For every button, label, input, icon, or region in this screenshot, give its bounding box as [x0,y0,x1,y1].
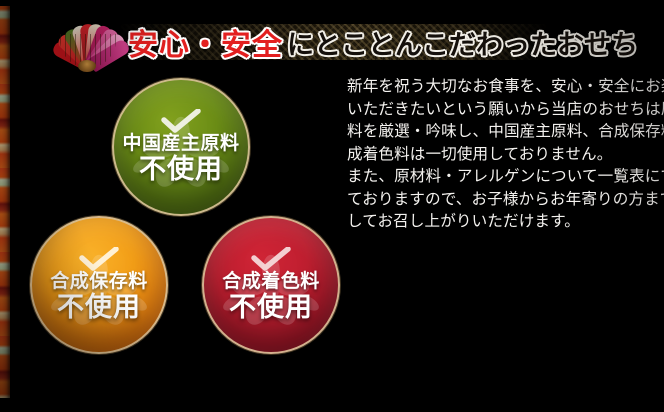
left-strip-top-gap [0,0,10,6]
check-mark-icon [161,109,201,133]
page-title: 安心・安全 にとことんこだわったおせち [128,22,638,62]
title-rest: にとことんこだわったおせち [287,23,638,62]
body-copy-line: いただきたいという願いから当店のおせちは原材 [347,99,664,122]
check-mark-icon [79,247,119,271]
badge-line-2: 不使用 [139,155,223,185]
body-copy: 新年を祝う大切なお食事を、安心・安全にお楽しみ いただきたいという願いから当店の… [347,76,664,234]
badge-line-1: 中国産主原料 [122,134,239,154]
badge-line-1: 合成保存料 [50,272,148,292]
title-highlight: 安心・安全 [128,20,283,64]
body-copy-line: してお召し上がりいただけます。 [347,211,664,234]
badge-no-synthetic-colorings: 合成着色料 不使用 [202,216,340,354]
body-copy-line: また、原材料・アレルゲンについて一覧表にて明記し [347,166,664,189]
fan-pivot [78,60,96,72]
japanese-folding-fan-icon [38,14,134,72]
promo-banner: 安心・安全 にとことんこだわったおせち 中国産主原料 不使用 [0,0,664,412]
badge-no-chinese-main-ingredients: 中国産主原料 不使用 [112,78,250,216]
header-band: 安心・安全 にとことんこだわったおせち [0,0,664,72]
badge-line-1: 合成着色料 [222,272,320,292]
badge-line-2: 不使用 [229,293,313,323]
badge-no-synthetic-preservatives: 合成保存料 不使用 [30,216,168,354]
badge-line-2: 不使用 [57,293,141,323]
check-mark-icon [251,247,291,271]
left-strip-bottom-gap [0,398,10,412]
body-copy-line: ておりますので、お子様からお年寄りの方まで安心 [347,189,664,212]
body-copy-line: 成着色料は一切使用しておりません。 [347,144,664,167]
body-copy-line: 料を厳選・吟味し、中国産主原料、合成保存料、合 [347,121,664,144]
left-decorative-strip [0,0,10,412]
body-copy-line: 新年を祝う大切なお食事を、安心・安全にお楽しみ [347,76,664,99]
